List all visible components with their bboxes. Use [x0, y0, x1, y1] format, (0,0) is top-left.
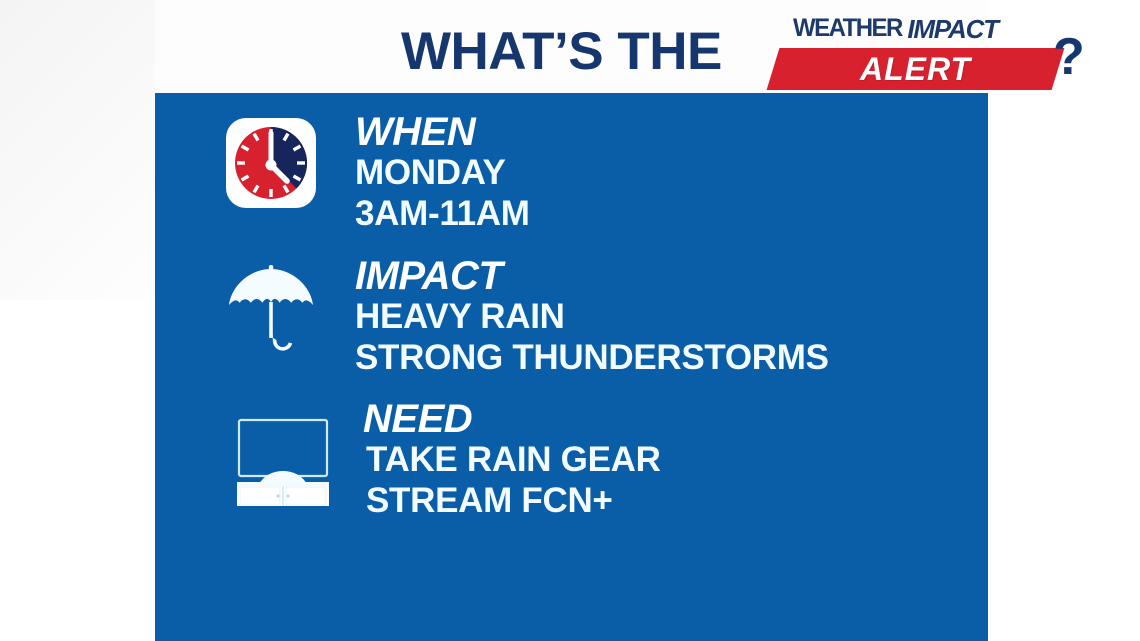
- text-cell-impact: IMPACT HEAVY RAIN STRONG THUNDERSTORMS: [355, 255, 829, 379]
- logo-top-line: WEATHER IMPACT: [793, 14, 998, 44]
- row-detail-impact-2: STRONG THUNDERSTORMS: [355, 338, 829, 379]
- umbrella-icon: [225, 261, 317, 356]
- logo-word-weather: WEATHER: [793, 14, 902, 43]
- icon-cell-impact: [225, 255, 355, 356]
- weather-impact-alert-logo: WEATHER IMPACT ALERT: [773, 14, 1058, 90]
- row-kicker-when: WHEN: [355, 111, 530, 153]
- logo-word-impact: IMPACT: [907, 14, 998, 45]
- content-panel: WHEN MONDAY 3AM-11AM IMPACT HEAV: [155, 93, 988, 641]
- icon-cell-need: [225, 398, 363, 508]
- info-row-when: WHEN MONDAY 3AM-11AM: [225, 111, 530, 235]
- row-detail-need-1: TAKE RAIN GEAR: [363, 440, 661, 481]
- row-detail-when-2: 3AM-11AM: [355, 194, 530, 235]
- logo-alert-wrap: ALERT: [773, 48, 1058, 90]
- info-row-impact: IMPACT HEAVY RAIN STRONG THUNDERSTORMS: [225, 255, 829, 379]
- icon-cell-when: [225, 111, 355, 209]
- clock-icon: [225, 117, 317, 209]
- row-detail-impact-1: HEAVY RAIN: [355, 297, 829, 338]
- question-mark: ?: [1053, 31, 1085, 83]
- row-kicker-need: NEED: [363, 398, 661, 440]
- text-cell-when: WHEN MONDAY 3AM-11AM: [355, 111, 530, 235]
- header-band: WHAT’S THE WEATHER IMPACT ALERT ?: [155, 0, 988, 93]
- page-title: WHAT’S THE: [401, 25, 722, 78]
- info-row-need: NEED TAKE RAIN GEAR STREAM FCN+: [225, 398, 661, 522]
- row-detail-need-2: STREAM FCN+: [363, 481, 661, 522]
- weather-alert-graphic: WHAT’S THE WEATHER IMPACT ALERT ?: [0, 0, 1140, 641]
- row-detail-when-1: MONDAY: [355, 153, 530, 194]
- logo-word-alert: ALERT: [860, 51, 971, 88]
- text-cell-need: NEED TAKE RAIN GEAR STREAM FCN+: [363, 398, 661, 522]
- television-icon: [233, 416, 333, 508]
- row-kicker-impact: IMPACT: [355, 255, 829, 297]
